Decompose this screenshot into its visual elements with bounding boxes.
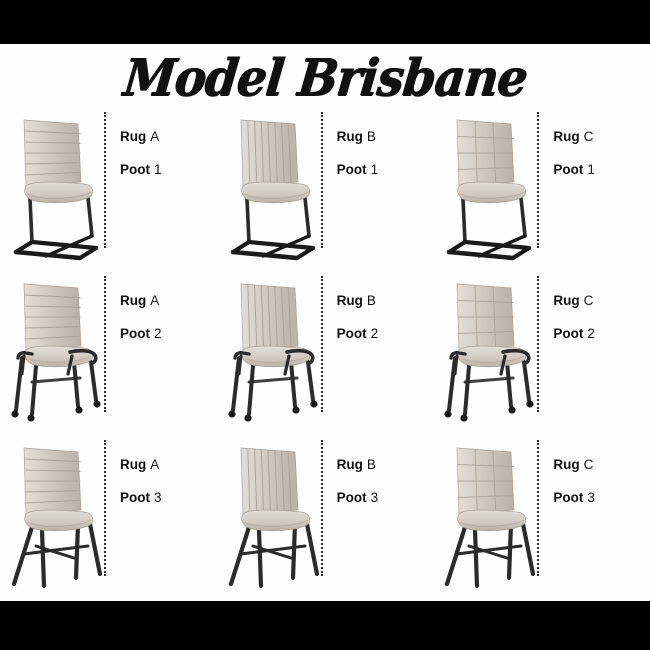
variant-cell[interactable]: RugBPoot3	[217, 434, 434, 598]
bottom-border-band	[0, 601, 650, 650]
poot-key: Poot	[553, 162, 583, 177]
poot-label: Poot1	[553, 163, 650, 177]
rug-label: RugB	[337, 458, 437, 472]
poot-key: Poot	[120, 326, 150, 341]
poot-key: Poot	[120, 490, 150, 505]
rug-key: Rug	[553, 293, 579, 308]
rug-label: RugC	[553, 294, 650, 308]
poot-label: Poot3	[553, 491, 650, 505]
rug-value: B	[367, 293, 376, 308]
sheet-body: Model Brisbane RugAPoot1	[0, 44, 650, 601]
rug-label: RugC	[553, 130, 650, 144]
poot-value: 3	[587, 490, 595, 505]
chair-illustration-c-2	[435, 270, 535, 434]
dotted-divider	[321, 440, 323, 576]
poot-value: 1	[371, 162, 379, 177]
chair-illustration-b-2	[219, 270, 319, 434]
poot-value: 3	[371, 490, 379, 505]
poot-label: Poot1	[120, 163, 220, 177]
poot-key: Poot	[337, 326, 367, 341]
poot-label: Poot1	[337, 163, 437, 177]
dotted-divider	[104, 440, 106, 576]
variant-cell[interactable]: RugAPoot1	[0, 106, 217, 270]
rug-label: RugA	[120, 294, 220, 308]
rug-value: C	[584, 293, 594, 308]
poot-value: 1	[587, 162, 595, 177]
rug-value: B	[367, 457, 376, 472]
variant-cell[interactable]: RugBPoot1	[217, 106, 434, 270]
variant-labels: RugCPoot2	[553, 294, 650, 359]
rug-key: Rug	[120, 293, 146, 308]
poot-value: 2	[154, 326, 162, 341]
chair-illustration-a-2	[2, 270, 102, 434]
chair-illustration-c-3	[435, 434, 535, 598]
variant-cell[interactable]: RugAPoot2	[0, 270, 217, 434]
variant-labels: RugAPoot2	[120, 294, 220, 359]
dotted-divider	[104, 276, 106, 412]
chair-illustration-b-1	[219, 106, 319, 270]
dotted-divider	[104, 112, 106, 248]
rug-label: RugC	[553, 458, 650, 472]
variant-cell[interactable]: RugAPoot3	[0, 434, 217, 598]
variant-cell[interactable]: RugBPoot2	[217, 270, 434, 434]
variant-labels: RugCPoot3	[553, 458, 650, 523]
dotted-divider	[537, 276, 539, 412]
poot-label: Poot2	[553, 327, 650, 341]
rug-value: B	[367, 129, 376, 144]
poot-value: 2	[587, 326, 595, 341]
product-variant-sheet: Model Brisbane RugAPoot1	[0, 0, 650, 650]
rug-key: Rug	[553, 129, 579, 144]
dotted-divider	[537, 112, 539, 248]
top-border-band	[0, 0, 650, 44]
poot-key: Poot	[337, 162, 367, 177]
poot-value: 1	[154, 162, 162, 177]
rug-value: A	[150, 457, 159, 472]
rug-key: Rug	[120, 457, 146, 472]
chair-illustration-a-3	[2, 434, 102, 598]
poot-label: Poot3	[120, 491, 220, 505]
variant-labels: RugBPoot3	[337, 458, 437, 523]
page-title-wrap: Model Brisbane	[0, 46, 650, 110]
rug-value: C	[584, 129, 594, 144]
rug-key: Rug	[337, 129, 363, 144]
rug-value: C	[584, 457, 594, 472]
dotted-divider	[321, 112, 323, 248]
rug-label: RugB	[337, 130, 437, 144]
rug-value: A	[150, 129, 159, 144]
rug-label: RugA	[120, 130, 220, 144]
variant-labels: RugAPoot1	[120, 130, 220, 195]
poot-key: Poot	[337, 490, 367, 505]
rug-key: Rug	[337, 457, 363, 472]
variant-labels: RugCPoot1	[553, 130, 650, 195]
rug-label: RugA	[120, 458, 220, 472]
variant-cell[interactable]: RugCPoot1	[433, 106, 650, 270]
variant-cell[interactable]: RugCPoot2	[433, 270, 650, 434]
poot-label: Poot2	[337, 327, 437, 341]
poot-value: 3	[154, 490, 162, 505]
rug-value: A	[150, 293, 159, 308]
chair-illustration-c-1	[435, 106, 535, 270]
variant-labels: RugBPoot2	[337, 294, 437, 359]
chair-illustration-b-3	[219, 434, 319, 598]
rug-key: Rug	[120, 129, 146, 144]
poot-label: Poot3	[337, 491, 437, 505]
variant-labels: RugAPoot3	[120, 458, 220, 523]
poot-value: 2	[371, 326, 379, 341]
poot-key: Poot	[553, 326, 583, 341]
page-title: Model Brisbane	[121, 48, 530, 107]
dotted-divider	[537, 440, 539, 576]
chair-illustration-a-1	[2, 106, 102, 270]
dotted-divider	[321, 276, 323, 412]
rug-key: Rug	[553, 457, 579, 472]
poot-label: Poot2	[120, 327, 220, 341]
poot-key: Poot	[120, 162, 150, 177]
rug-key: Rug	[337, 293, 363, 308]
variant-cell[interactable]: RugCPoot3	[433, 434, 650, 598]
variant-grid: RugAPoot1 RugBPoot1	[0, 106, 650, 598]
variant-labels: RugBPoot1	[337, 130, 437, 195]
poot-key: Poot	[553, 490, 583, 505]
rug-label: RugB	[337, 294, 437, 308]
